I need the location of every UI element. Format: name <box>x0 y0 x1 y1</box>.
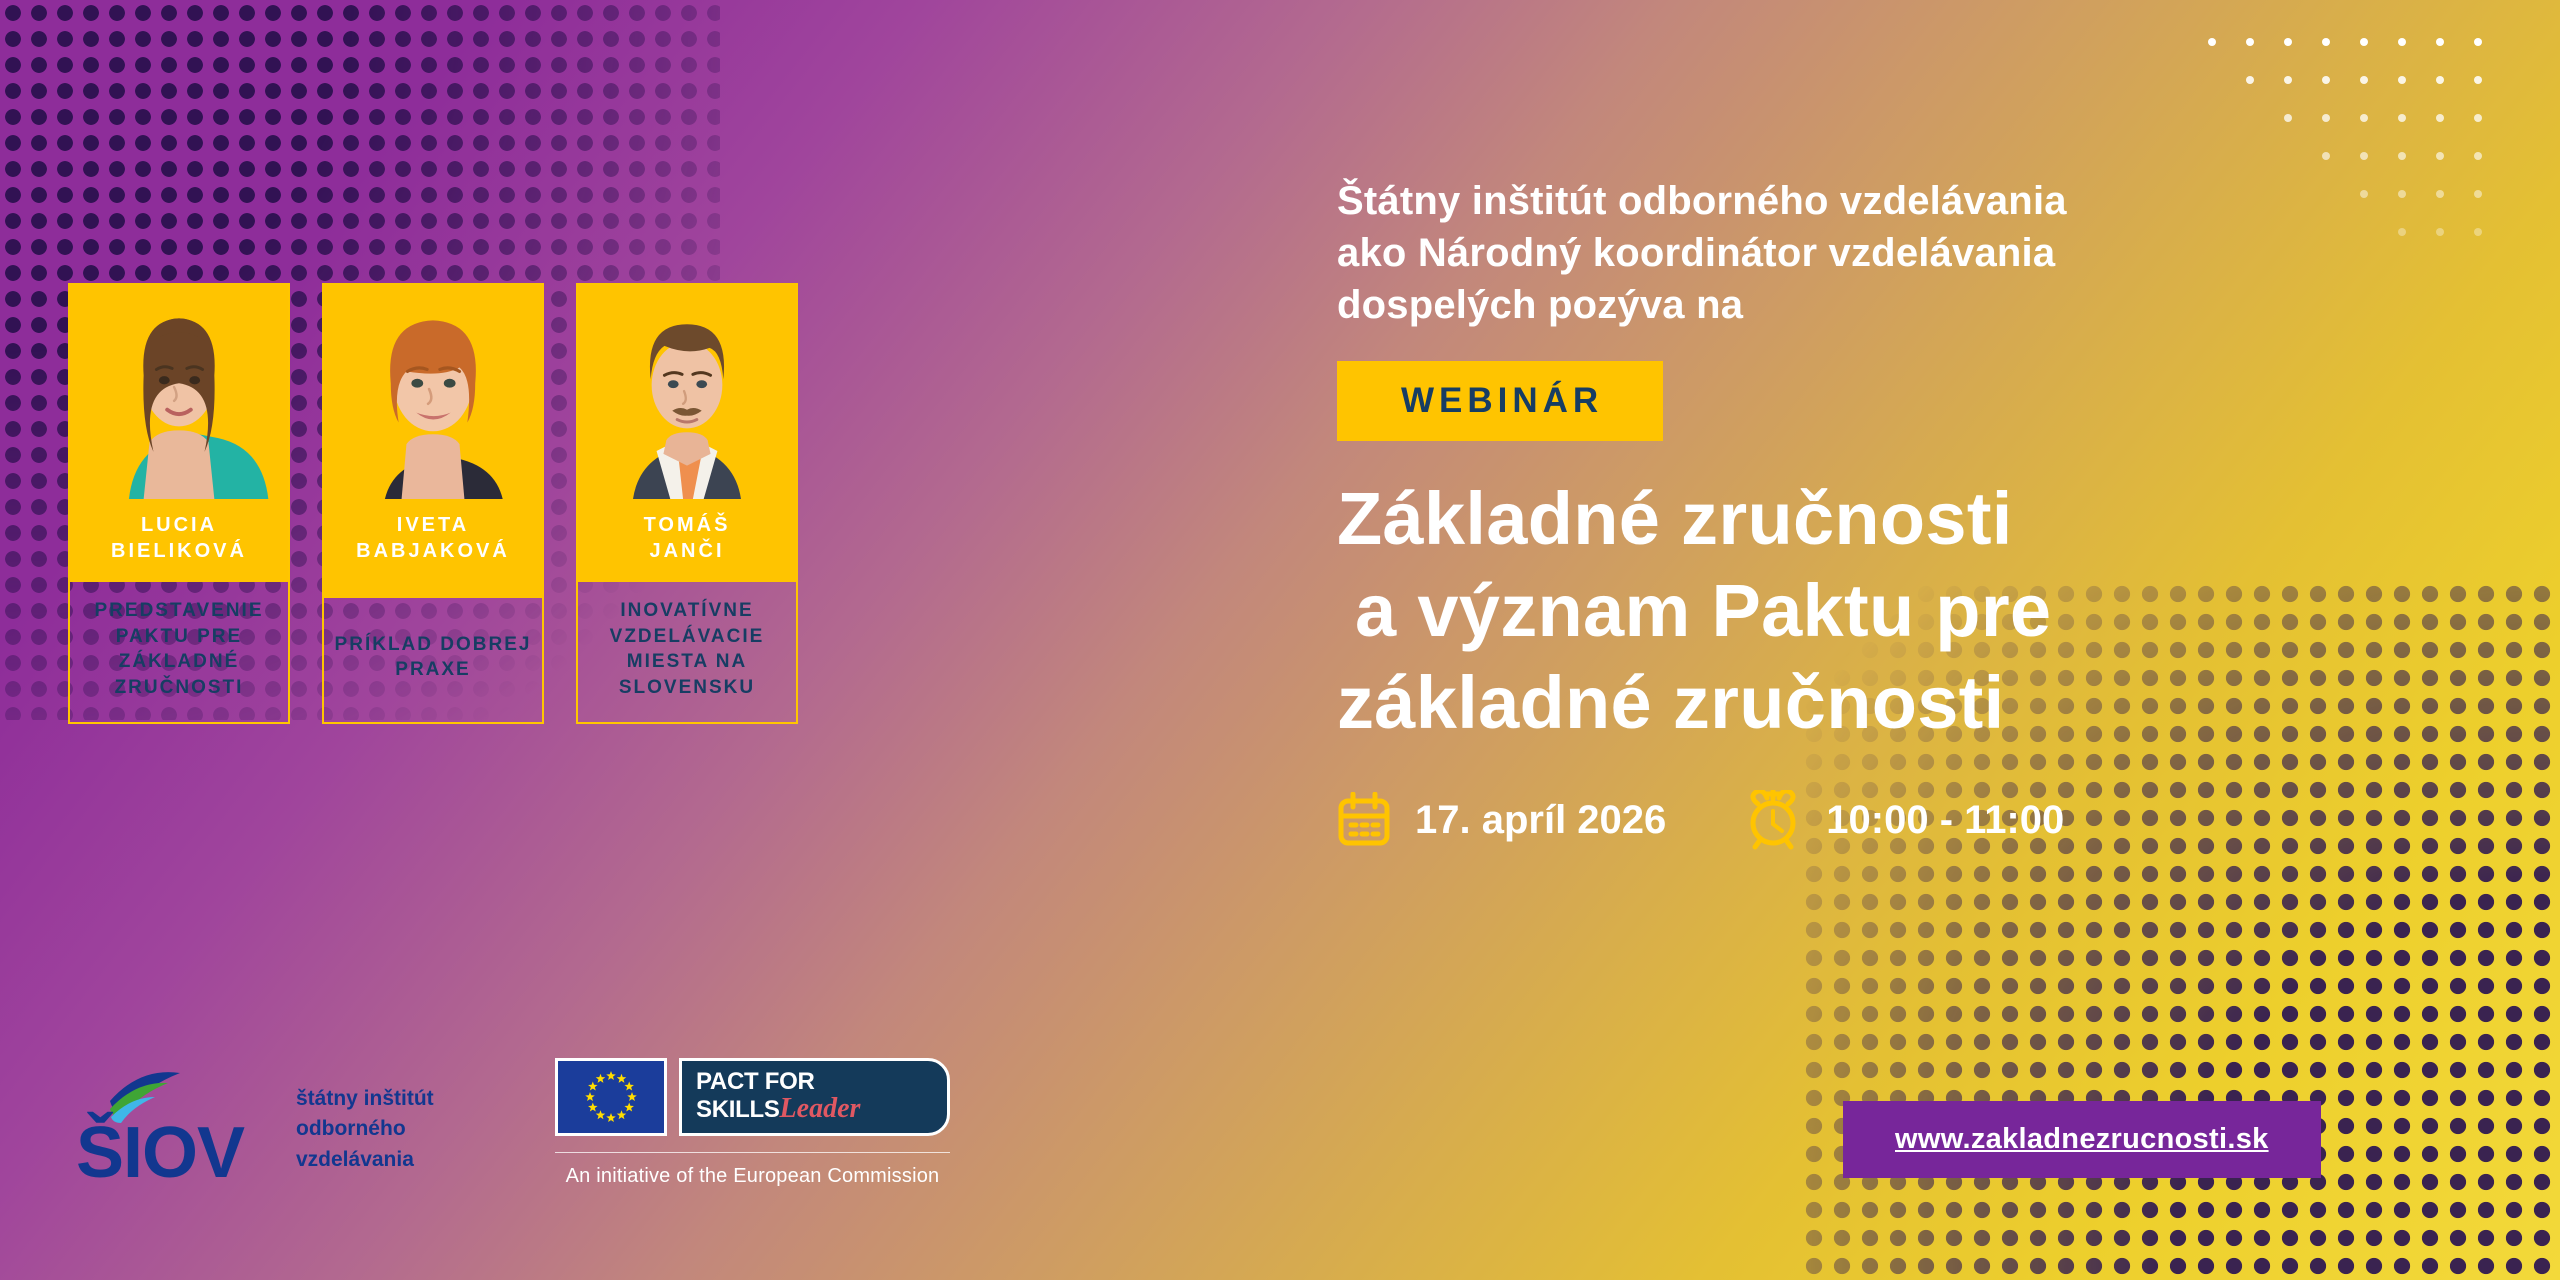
headline-line-2: a význam Paktu pre <box>1337 565 2457 657</box>
eu-stars-icon <box>558 1061 664 1133</box>
portrait-tomas-janci-icon <box>578 285 796 499</box>
speaker-topic: INOVATÍVNE VZDELÁVACIE MIESTA NA SLOVENS… <box>578 582 796 722</box>
speaker-photo <box>324 285 542 503</box>
speaker-last-name: BIELIKOVÁ <box>74 539 284 565</box>
speaker-last-name: BABJAKOVÁ <box>328 539 538 565</box>
intro-line-3: dospelých pozýva na <box>1337 279 2297 331</box>
speaker-first-name: TOMÁŠ <box>582 513 792 539</box>
dot <box>2398 152 2406 160</box>
dot <box>2360 76 2368 84</box>
event-time: 10:00 - 11:00 <box>1826 798 2064 843</box>
speaker-topic: PRÍKLAD DOBREJ PRAXE <box>324 598 542 722</box>
dot <box>2360 38 2368 46</box>
dot <box>2474 76 2482 84</box>
intro-line-1: Štátny inštitút odborného vzdelávania <box>1337 175 2297 227</box>
organizer-intro: Štátny inštitút odborného vzdelávania ak… <box>1337 175 2297 331</box>
dot <box>2284 76 2292 84</box>
dot <box>2246 76 2254 84</box>
dot <box>2322 38 2330 46</box>
speaker-photo <box>578 285 796 503</box>
dot <box>2474 114 2482 122</box>
speaker-name: LUCIA BIELIKOVÁ <box>70 503 288 582</box>
dot <box>2360 114 2368 122</box>
portrait-lucia-bielikova-icon <box>70 285 288 499</box>
pact-caption: An initiative of the European Commission <box>555 1165 950 1188</box>
pact-for-skills-box: PACT FOR SKILLSLeader <box>679 1058 950 1136</box>
portrait-iveta-babjakova-icon <box>324 285 542 499</box>
website-url-button[interactable]: www.zakladnezrucnosti.sk <box>1843 1101 2321 1178</box>
dot <box>2474 152 2482 160</box>
headline-line-1: Základné zručnosti <box>1337 473 2457 565</box>
siov-subtitle-line-2: odborného <box>296 1114 434 1144</box>
webinar-badge: WEBINÁR <box>1337 361 1663 441</box>
siov-mark: ŠIOV <box>68 1075 278 1185</box>
alarm-clock-icon <box>1744 790 1802 850</box>
dot <box>2208 38 2216 46</box>
siov-subtitle-line-1: štátny inštitút <box>296 1084 434 1114</box>
speaker-name: TOMÁŠ JANČI <box>578 503 796 582</box>
pact-title-line-2: SKILLSLeader <box>696 1095 947 1124</box>
speaker-card: LUCIA BIELIKOVÁ PREDSTAVENIE PAKTU PRE Z… <box>68 283 290 724</box>
siov-subtitle: štátny inštitút odborného vzdelávania <box>296 1084 434 1185</box>
speaker-card-list: LUCIA BIELIKOVÁ PREDSTAVENIE PAKTU PRE Z… <box>68 283 798 724</box>
pact-leader-script: Leader <box>780 1093 861 1124</box>
dot <box>2398 38 2406 46</box>
dot <box>2398 114 2406 122</box>
event-date: 17. apríl 2026 <box>1415 798 1666 843</box>
speaker-name: IVETA BABJAKOVÁ <box>324 503 542 598</box>
dot <box>2322 152 2330 160</box>
siov-subtitle-line-3: vzdelávania <box>296 1145 434 1175</box>
dot <box>2436 38 2444 46</box>
dot <box>2322 114 2330 122</box>
calendar-icon <box>1337 792 1391 848</box>
eu-flag-icon <box>555 1058 667 1136</box>
pact-logo-row: PACT FOR SKILLSLeader <box>555 1058 950 1136</box>
dot <box>2360 152 2368 160</box>
dot <box>2322 76 2330 84</box>
dot <box>2474 190 2482 198</box>
announcement-content: Štátny inštitút odborného vzdelávania ak… <box>1337 175 2457 850</box>
speaker-card: TOMÁŠ JANČI INOVATÍVNE VZDELÁVACIE MIEST… <box>576 283 798 724</box>
speaker-topic: PREDSTAVENIE PAKTU PRE ZÁKLADNÉ ZRUČNOST… <box>70 582 288 722</box>
dot <box>2474 38 2482 46</box>
pact-for-skills-logo: PACT FOR SKILLSLeader An initiative of t… <box>555 1058 950 1188</box>
divider <box>555 1152 950 1153</box>
dot <box>2284 38 2292 46</box>
speaker-card: IVETA BABJAKOVÁ PRÍKLAD DOBREJ PRAXE <box>322 283 544 724</box>
intro-line-2: ako Národný koordinátor vzdelávania <box>1337 227 2297 279</box>
event-datetime: 17. apríl 2026 10:00 - 11:00 <box>1337 790 2457 850</box>
webinar-poster: LUCIA BIELIKOVÁ PREDSTAVENIE PAKTU PRE Z… <box>0 0 2560 1280</box>
speaker-last-name: JANČI <box>582 539 792 565</box>
dot <box>2284 114 2292 122</box>
siov-wordmark: ŠIOV <box>76 1117 244 1189</box>
dot <box>2436 114 2444 122</box>
speaker-first-name: LUCIA <box>74 513 284 539</box>
pact-skills-text: SKILLS <box>696 1096 780 1123</box>
dot <box>2398 76 2406 84</box>
headline-line-3: základné zručnosti <box>1337 657 2457 749</box>
speaker-first-name: IVETA <box>328 513 538 539</box>
dot <box>2474 228 2482 236</box>
siov-logo: ŠIOV štátny inštitút odborného vzdelávan… <box>68 1075 434 1185</box>
dot <box>2246 38 2254 46</box>
page-title: Základné zručnosti a význam Paktu pre zá… <box>1337 473 2457 748</box>
dot <box>2436 152 2444 160</box>
dot <box>2436 76 2444 84</box>
speaker-photo <box>70 285 288 503</box>
pact-title-line-1: PACT FOR <box>696 1070 947 1094</box>
